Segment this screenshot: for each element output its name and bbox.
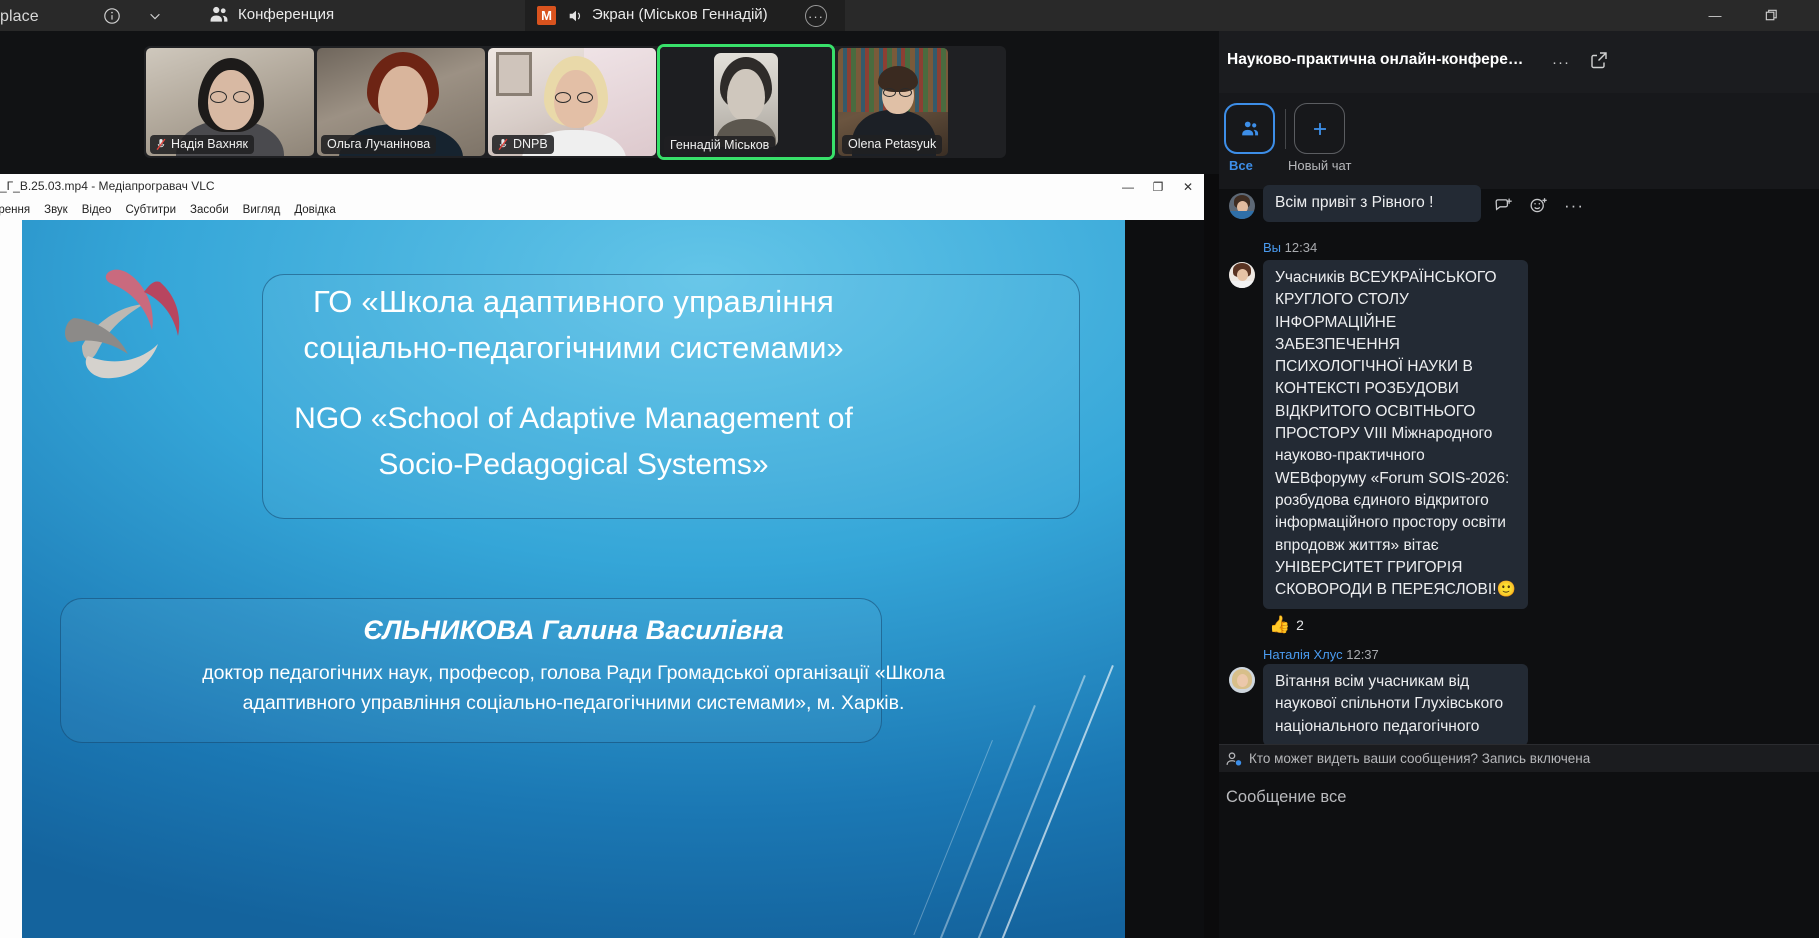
more-options-icon[interactable]: ···	[805, 5, 827, 27]
chat-title: Науково-практична онлайн-конфере…	[1227, 51, 1523, 69]
participant-name: Надія Вахняк	[171, 137, 248, 151]
chat-bubble[interactable]: Вітання всім учасникам від наукової спіл…	[1263, 664, 1528, 744]
vlc-menu-item-video[interactable]: Відео	[82, 204, 112, 216]
message-author: Наталія Хлус	[1263, 647, 1343, 662]
participant-name-chip: Ольга Лучанінова	[321, 135, 436, 154]
participant-tile[interactable]: Olena Petasyuk	[838, 48, 948, 156]
participant-tile[interactable]: DNPB	[488, 48, 656, 156]
conference-label: Конференция	[238, 6, 334, 23]
participant-tile[interactable]: Ольга Лучанінова	[317, 48, 485, 156]
participant-name-chip: Olena Petasyuk	[842, 135, 942, 154]
participant-name: Геннадій Міськов	[670, 138, 769, 152]
participant-name: Ольга Лучанінова	[327, 137, 430, 151]
plus-icon	[1309, 118, 1331, 140]
chevron-down-icon[interactable]	[147, 9, 163, 23]
organization-logo-icon	[64, 260, 224, 390]
vlc-menu-item-view[interactable]: Вигляд	[243, 204, 281, 216]
tab-new-chat[interactable]	[1294, 103, 1345, 154]
vlc-menu-item-media[interactable]: орення	[0, 204, 30, 216]
slide-title-line-3: NGO «School of Adaptive Management of	[22, 402, 1125, 436]
slide-letterbox	[1125, 220, 1204, 938]
chat-compose-area[interactable]: Сообщение все	[1219, 772, 1819, 938]
window-restore-button[interactable]	[1748, 0, 1794, 31]
message-meta: Наталія Хлус 12:37	[1263, 647, 1379, 662]
emoji-icon	[1529, 196, 1548, 215]
participant-avatar-photo	[714, 53, 778, 147]
slide-title-line-1: ГО «Школа адаптивного управління	[22, 284, 1125, 320]
vlc-title-bar: _Г_В.25.03.mp4 - Медіапрогравач VLC — ❐ …	[0, 174, 1204, 200]
slide-speaker-desc-1: доктор педагогічних наук, професор, голо…	[22, 662, 1125, 685]
chat-privacy-notice-text: Кто может видеть ваши сообщения? Запись …	[1249, 751, 1590, 766]
message-time: 12:37	[1346, 647, 1379, 662]
vlc-close-button[interactable]: ✕	[1170, 174, 1206, 200]
participant-filmstrip: Надія Вахняк Ольга Лучанінова	[0, 31, 1219, 174]
vlc-menu-item-help[interactable]: Довідка	[294, 204, 335, 216]
vlc-menu-item-audio[interactable]: Звук	[44, 204, 68, 216]
participant-name-chip: Надія Вахняк	[150, 135, 254, 154]
participant-tile-active[interactable]: Геннадій Міськов	[660, 47, 832, 157]
chat-bubble[interactable]: Всім привіт з Рівного !	[1263, 185, 1481, 222]
slide-title-line-4: Socio-Pedagogical Systems»	[22, 448, 1125, 482]
window-minimize-button[interactable]: —	[1692, 0, 1738, 31]
info-circle-icon[interactable]	[103, 7, 121, 25]
tab-divider	[1285, 109, 1286, 149]
speaker-icon[interactable]	[567, 7, 585, 25]
message-meta: Вы 12:34	[1263, 240, 1317, 255]
vlc-menu-item-tools[interactable]: Засоби	[190, 204, 229, 216]
reply-icon	[1494, 196, 1513, 215]
thumbs-up-icon: 👍	[1269, 615, 1290, 635]
presentation-slide: ГО «Школа адаптивного управління соціаль…	[22, 220, 1125, 938]
screen-share-label: Экран (Міськов Геннадій)	[592, 6, 768, 23]
participant-name-chip: DNPB	[492, 135, 554, 154]
avatar	[1229, 262, 1255, 288]
teams-title-bar: place Конференция M Экран (Міськов Генна…	[0, 0, 1819, 31]
slide-speaker-desc-2: адаптивного управління соціально-педагог…	[22, 692, 1125, 715]
open-in-new-icon[interactable]	[1589, 50, 1609, 70]
share-badge: M	[537, 6, 556, 25]
chat-message-list[interactable]: Всім привіт з Рівного ! ··· Вы 12:34	[1219, 159, 1819, 744]
vlc-window-title: _Г_В.25.03.mp4 - Медіапрогравач VLC	[0, 179, 215, 193]
vlc-menu-bar: орення Звук Відео Субтитри Засоби Вигляд…	[0, 200, 1204, 220]
slide-title-line-2: соціально-педагогічними системами»	[22, 330, 1125, 366]
chat-bubble[interactable]: Учасників ВСЕУКРАЇНСЬКОГО КРУГЛОГО СТОЛУ…	[1263, 260, 1528, 609]
chat-panel: Науково-практична онлайн-конфере… ···	[1219, 31, 1819, 938]
muted-mic-icon	[498, 138, 508, 151]
avatar	[1229, 193, 1255, 219]
vlc-media-player-window: _Г_В.25.03.mp4 - Медіапрогравач VLC — ❐ …	[0, 174, 1204, 938]
message-actions[interactable]: ···	[1494, 196, 1584, 215]
vlc-menu-item-subtitles[interactable]: Субтитри	[125, 204, 176, 216]
participant-name: DNPB	[513, 137, 548, 151]
muted-mic-icon	[156, 138, 166, 151]
tab-all[interactable]	[1224, 103, 1275, 154]
people-icon	[208, 4, 230, 26]
chat-more-options-icon[interactable]: ···	[1552, 54, 1570, 71]
vlc-video-surface[interactable]: ГО «Школа адаптивного управління соціаль…	[22, 220, 1204, 938]
more-icon[interactable]: ···	[1564, 199, 1584, 213]
message-time: 12:34	[1285, 240, 1318, 255]
participant-name: Olena Petasyuk	[848, 137, 936, 151]
slide-speaker-name: ЄЛЬНИКОВА Галина Василівна	[22, 615, 1125, 646]
participant-tile[interactable]: Надія Вахняк	[146, 48, 314, 156]
avatar	[1229, 667, 1255, 693]
reaction-count: 2	[1296, 617, 1304, 633]
message-reaction[interactable]: 👍 2	[1269, 615, 1304, 635]
person-add-icon	[1225, 750, 1243, 768]
chat-header: Науково-практична онлайн-конфере… ···	[1219, 31, 1819, 93]
marketplace-label: place	[0, 8, 39, 26]
message-author: Вы	[1263, 240, 1281, 255]
chat-privacy-notice: Кто может видеть ваши сообщения? Запись …	[1219, 744, 1819, 772]
people-icon	[1239, 118, 1261, 140]
chat-message-input[interactable]: Сообщение все	[1226, 788, 1346, 807]
participant-name-chip: Геннадій Міськов	[664, 136, 775, 155]
